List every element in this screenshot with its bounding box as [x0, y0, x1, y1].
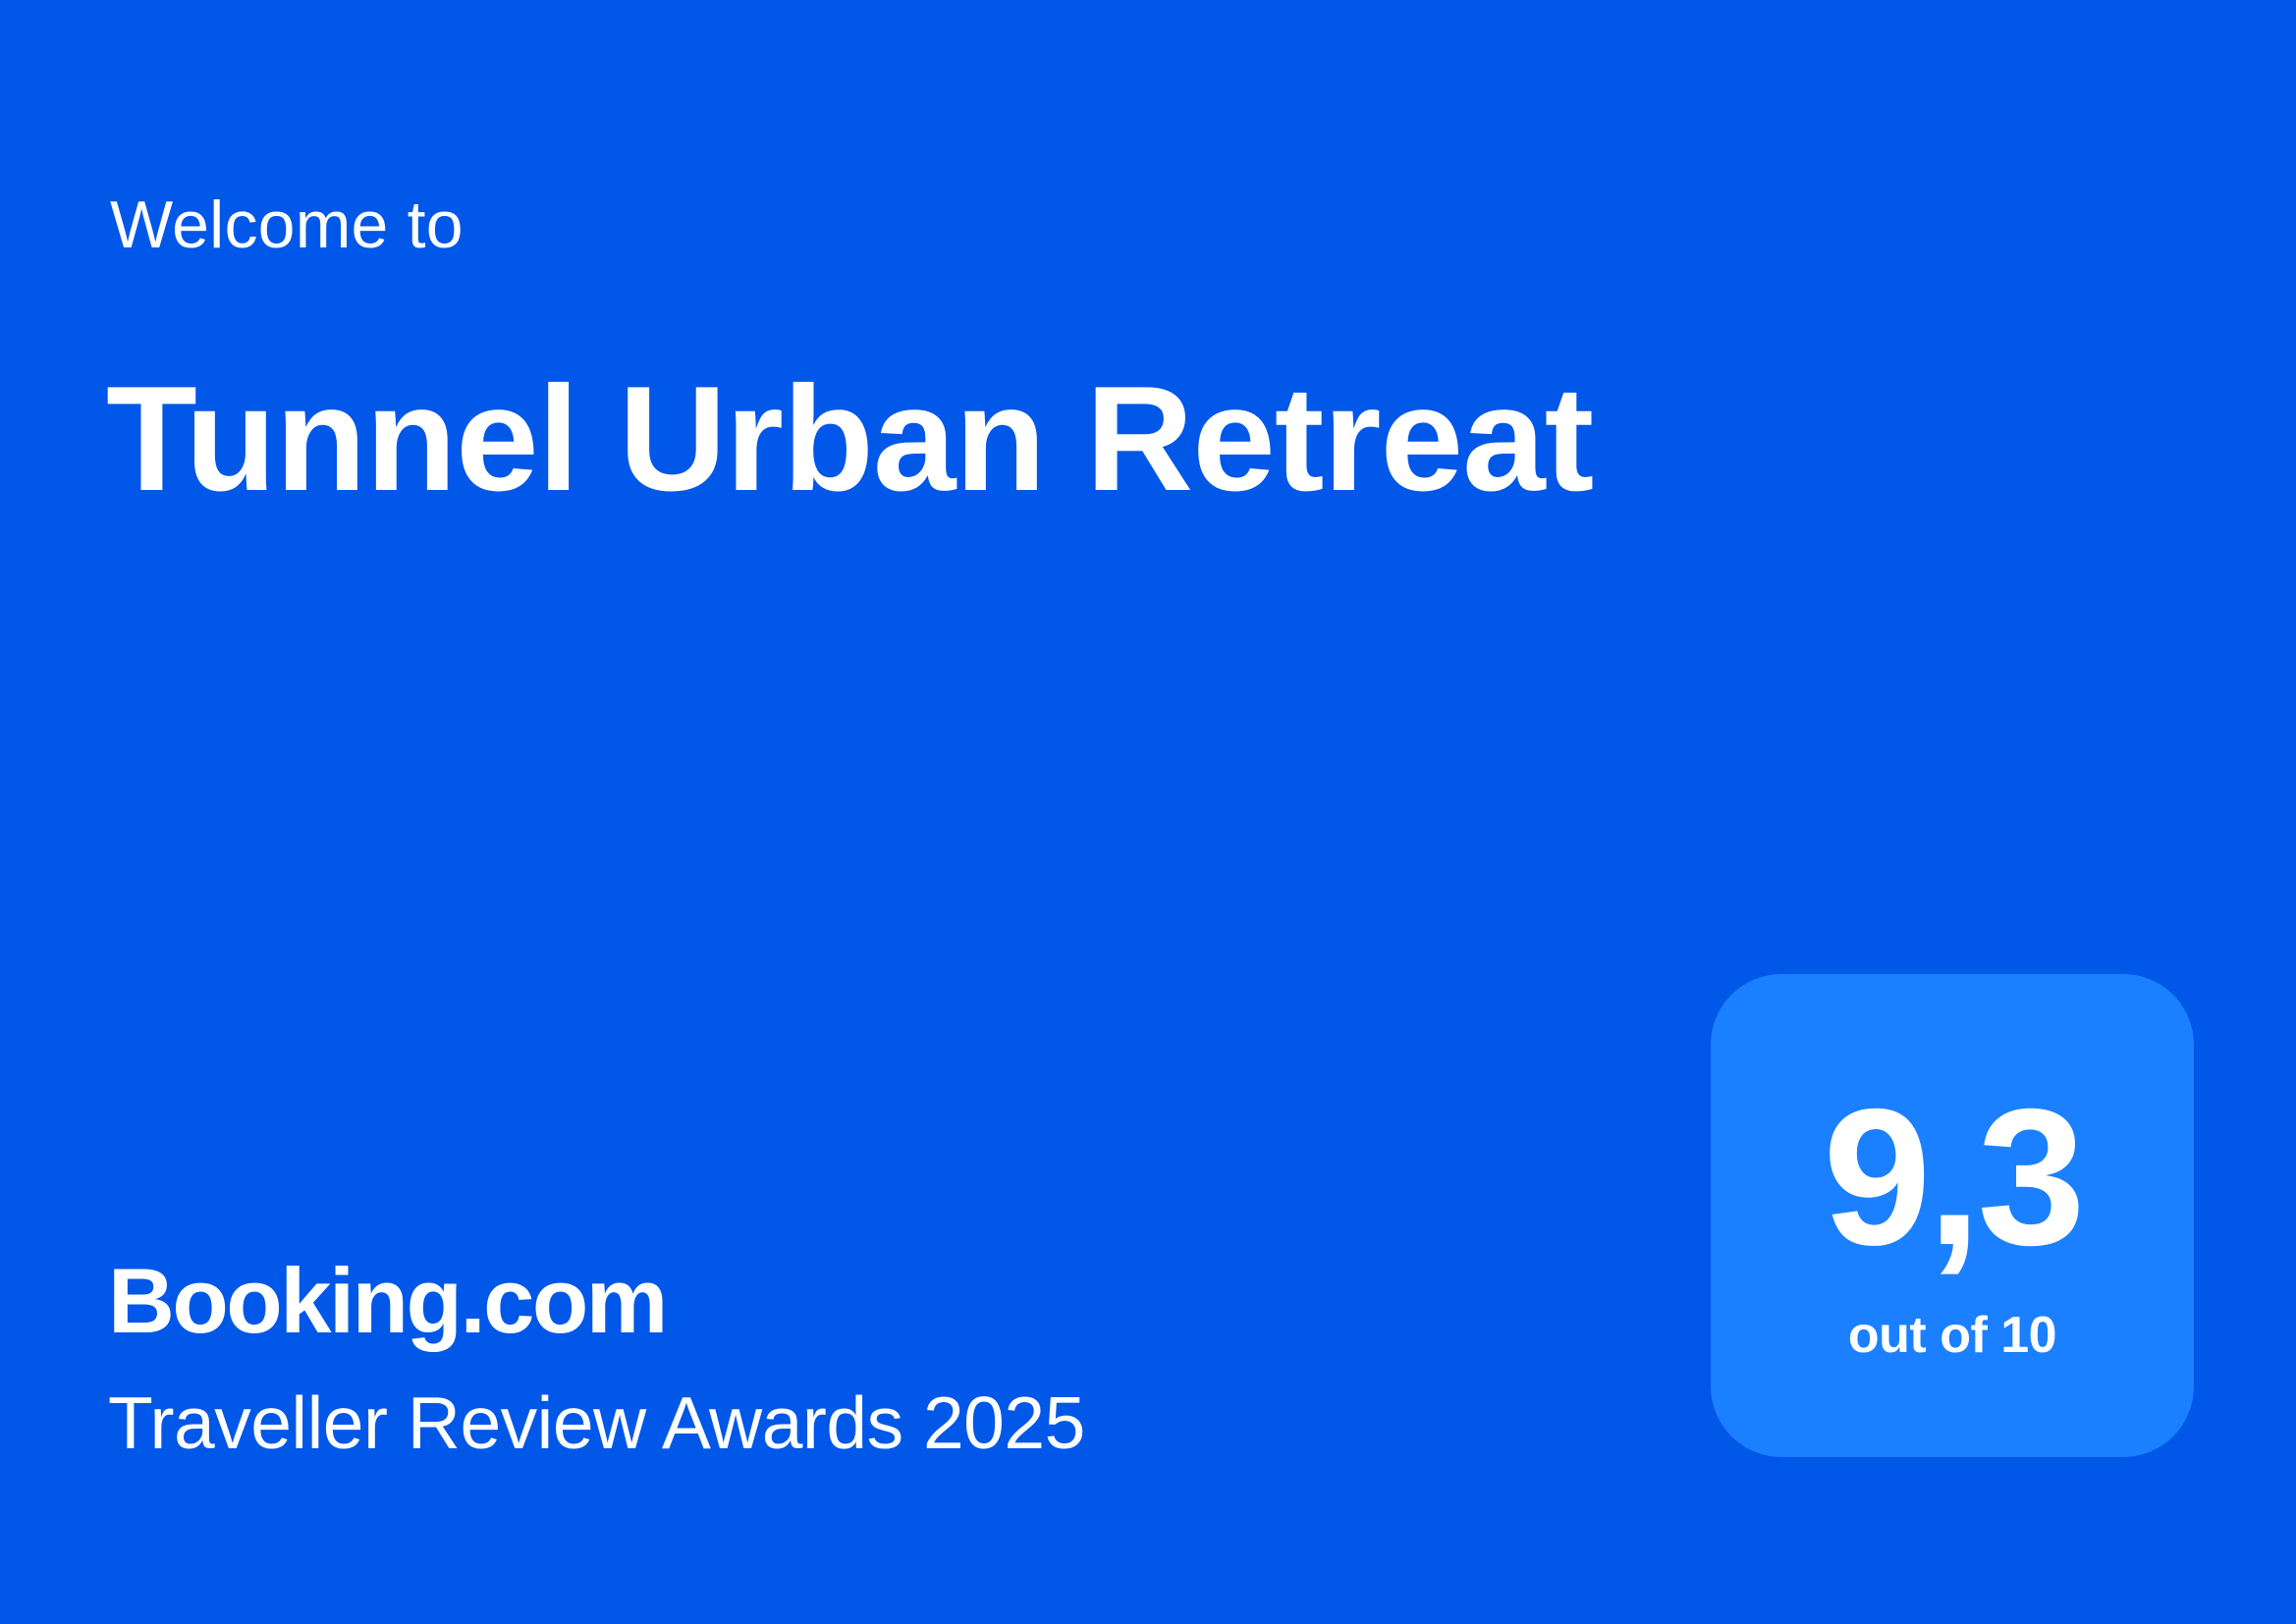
score-value: 9,3 — [1823, 1080, 2081, 1274]
welcome-label: Welcome to — [110, 189, 464, 262]
traveller-review-award-card: Welcome to Tunnel Urban Retreat Booking.… — [0, 0, 2296, 1624]
property-name-title: Tunnel Urban Retreat — [106, 361, 1593, 518]
award-subtitle: Traveller Review Awards 2025 — [108, 1386, 1085, 1460]
booking-com-logo: Booking.com — [108, 1255, 1085, 1347]
score-badge: 9,3 out of 10 — [1711, 974, 2194, 1457]
score-scale-label: out of 10 — [1848, 1310, 2056, 1361]
brand-block: Booking.com Traveller Review Awards 2025 — [108, 1255, 1085, 1460]
